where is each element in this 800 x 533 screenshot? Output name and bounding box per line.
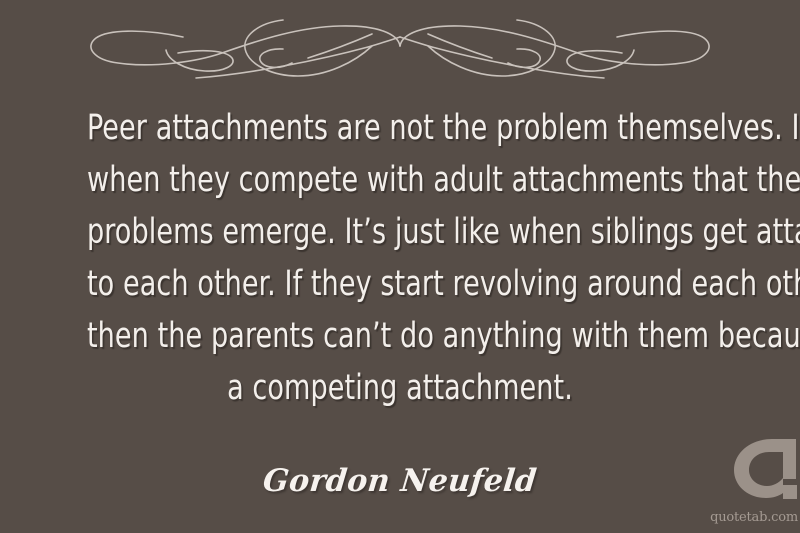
quote-line: to each other. If they start revolving a… [87,258,713,310]
quote-line: problems emerge. It’s just like when sib… [87,206,713,258]
quote-line: when they compete with adult attachments… [87,154,713,206]
quote-text: Peer attachments are not the problem the… [36,102,764,414]
quote-author: Gordon Neufeld [0,463,800,499]
brand-site-label: quotetab.com [710,510,798,525]
quote-line: a competing attachment. [87,362,713,414]
brand-watermark: quotetab.com [704,437,800,525]
quote-card: Peer attachments are not the problem the… [0,0,800,533]
quotetab-logo-icon [726,437,800,503]
flourish-divider-icon [0,6,800,84]
quote-line: then the parents can’t do anything with … [87,310,713,362]
quote-line: Peer attachments are not the problem the… [87,102,713,154]
author-name: Gordon Neufeld [261,463,538,499]
